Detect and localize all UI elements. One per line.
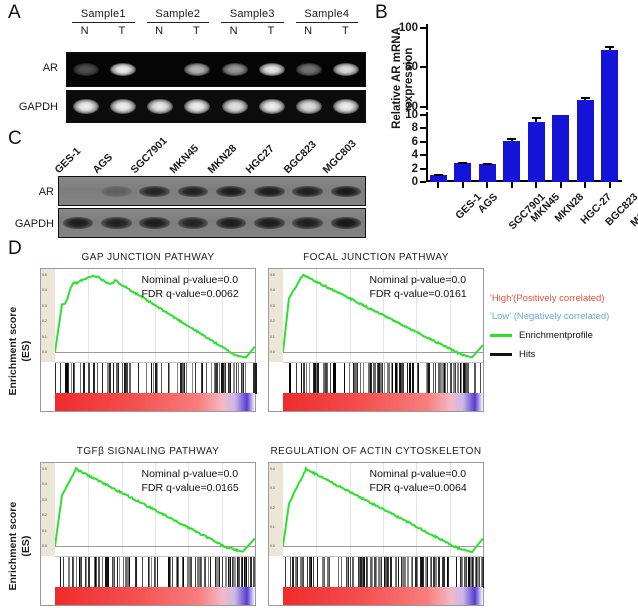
gsea-hit-tick <box>431 557 432 588</box>
legend-hits-row: Hits <box>490 350 638 360</box>
gsea-hit-tick <box>73 363 74 394</box>
gsea-hit-tick <box>119 557 120 588</box>
gsea-hit-tick <box>471 557 472 588</box>
gsea-hit-tick <box>444 557 445 588</box>
gsea-hit-tick <box>110 363 111 394</box>
gsea-hit-tick <box>88 557 90 588</box>
y-tick <box>420 114 426 116</box>
legend-low-label: 'Low' (Negatively correlated) <box>490 312 638 322</box>
gsea-hit-tick <box>349 363 350 394</box>
gsea-hit-tick <box>360 557 362 588</box>
gsea-hit-tick <box>327 557 329 588</box>
gsea-hit-tick <box>178 557 179 588</box>
gsea-hit-tick <box>333 363 334 394</box>
y-tick <box>420 106 426 108</box>
gsea-hit-tick <box>88 363 90 394</box>
gsea-hit-tick <box>325 363 327 394</box>
gsea-hit-tick <box>113 363 114 394</box>
panel-a-gel-gapdh <box>66 90 366 123</box>
gsea-hit-tick <box>427 557 428 588</box>
gsea-hit-tick <box>309 557 310 588</box>
gsea-hit-tick <box>479 557 480 588</box>
gsea-hit-tick <box>456 557 457 588</box>
gsea-ranking-gradient <box>55 393 255 411</box>
gsea-hit-tick <box>430 557 431 588</box>
gsea-hit-tick <box>391 363 392 394</box>
gsea-hit-tick <box>253 557 255 588</box>
sample-underline <box>147 22 210 23</box>
gsea-y-tick-label: 0.0 <box>270 350 275 354</box>
gsea-hit-tick <box>289 363 291 394</box>
gsea-hit-tick <box>438 363 440 394</box>
gsea-hit-tick <box>457 363 459 394</box>
lane-label-t: T <box>178 25 215 37</box>
gsea-hit-tick <box>355 363 357 394</box>
gsea-hit-tick <box>102 557 103 588</box>
gsea-hit-tick <box>151 557 152 588</box>
gsea-hit-tick <box>129 363 131 394</box>
panel-c-cellline-labels: GES-1AGSSGC7901MKN45MKN28HGC27BGC823MGC8… <box>54 134 360 176</box>
y-tick <box>420 154 426 156</box>
gsea-ranking-gradient <box>283 393 483 411</box>
gel-band-ar <box>110 63 136 76</box>
y-tick-label: 20 <box>405 101 418 113</box>
gsea-hit-tick <box>205 557 206 588</box>
gsea-hit-tick <box>396 557 397 588</box>
y-tick <box>420 27 426 29</box>
gsea-hit-tick <box>363 363 364 394</box>
gsea-hit-tick <box>464 557 465 588</box>
gsea-hit-tick <box>395 363 396 394</box>
gsea-y-tick-label: 0.4 <box>42 482 47 486</box>
gsea-hit-tick <box>148 557 149 588</box>
gsea-hit-tick <box>417 557 418 588</box>
axis-break-marker <box>425 110 435 112</box>
lane-label-n: N <box>66 25 103 37</box>
gsea-plot-tgfb-signaling: TGFβ SIGNALING PATHWAY0.00.10.20.30.40.5… <box>40 446 256 606</box>
gel-band-gapdh <box>147 99 173 114</box>
gsea-y-tick-label: 0.2 <box>270 506 275 510</box>
cellline-label: MKN45 <box>167 142 201 176</box>
gel-band-gapdh <box>222 99 248 114</box>
gsea-plot-actin-cytoskeleton: REGULATION OF ACTIN CYTOSKELETON0.00.10.… <box>268 446 484 606</box>
error-bar-cap <box>434 174 443 176</box>
gsea-hit-tick <box>385 557 387 588</box>
gsea-hit-tick <box>455 363 456 394</box>
y-tick <box>420 66 426 68</box>
gsea-hit-tick <box>60 363 61 394</box>
blot-band-ar <box>254 186 285 197</box>
gsea-hit-tick <box>460 557 461 588</box>
cellline-label: MKN28 <box>205 142 239 176</box>
panel-c-row-label-gapdh: GAPDH <box>0 218 54 230</box>
gsea-hit-tick <box>117 557 118 588</box>
gel-band-ar <box>73 63 99 76</box>
sample-underline <box>296 22 359 23</box>
lane-label-t: T <box>103 25 140 37</box>
gsea-hit-tick <box>176 557 177 588</box>
gsea-hit-tick <box>374 557 376 588</box>
gsea-hit-tick <box>330 363 331 394</box>
blot-band-gapdh <box>101 217 132 229</box>
gsea-hit-tick <box>405 557 406 588</box>
blot-band-gapdh <box>178 217 209 229</box>
lane-labels: NT <box>290 25 365 37</box>
gsea-hit-tick <box>290 557 291 588</box>
panel-a-rt-pcr: A Sample1NTSample2NTSample3NTSample4NT A… <box>0 0 372 128</box>
y-tick-label: 6 <box>412 136 418 148</box>
gsea-hit-tick <box>222 557 223 588</box>
gsea-hit-tick <box>311 557 312 588</box>
sample-group-2: Sample2NT <box>141 8 216 37</box>
gsea-y-axis-band <box>269 463 284 556</box>
gsea-y-tick-label: 0.1 <box>270 335 275 339</box>
gsea-y-tick-label: 0.2 <box>42 319 47 323</box>
panel-a-letter: A <box>8 2 21 24</box>
y-tick <box>420 141 426 143</box>
gsea-hit-tick <box>98 557 100 588</box>
gsea-hit-tick <box>215 557 216 588</box>
gsea-title: GAP JUNCTION PATHWAY <box>40 252 256 263</box>
lane-label-t: T <box>327 25 364 37</box>
gsea-y-tick-label: 0.3 <box>270 304 275 308</box>
lane-label-t: T <box>252 25 289 37</box>
sample-group-3: Sample3NT <box>215 8 290 37</box>
gsea-hit-tick <box>285 557 286 588</box>
blot-band-ar <box>331 186 362 197</box>
gsea-hit-tick <box>135 557 136 588</box>
gsea-stats-annotation: Nominal p-value=0.0 FDR q-value=0.0165 <box>142 468 239 495</box>
gsea-hit-tick <box>374 363 376 394</box>
gsea-plot-gap-junction: GAP JUNCTION PATHWAY0.00.10.20.30.40.5No… <box>40 252 256 412</box>
bar-mgc803-lower <box>601 115 618 182</box>
gsea-y-tick-label: 0.1 <box>42 529 47 533</box>
gsea-hit-tick <box>248 557 249 588</box>
gsea-hit-tick <box>409 363 411 394</box>
panel-d-gsea: D Enrichment score (ES) Enrichment score… <box>0 238 638 608</box>
sample-group-4: Sample4NT <box>290 8 365 37</box>
sample-group-1: Sample1NT <box>66 8 141 37</box>
bar-mkn45 <box>503 141 520 182</box>
bar-ags <box>454 163 471 182</box>
blot-band-gapdh <box>216 217 247 229</box>
gsea-hit-tick <box>388 557 389 588</box>
gsea-hit-tick <box>60 557 61 588</box>
gsea-stats-annotation: Nominal p-value=0.0 FDR q-value=0.0161 <box>370 274 467 301</box>
gel-band-gapdh <box>184 99 210 114</box>
gsea-hit-tick <box>427 363 428 394</box>
error-bar-cap <box>458 162 467 164</box>
legend-profile-swatch-icon <box>490 334 512 337</box>
y-tick-label: 4 <box>412 149 418 161</box>
gel-band-ar <box>184 63 210 76</box>
gel-band-ar <box>222 63 248 76</box>
gsea-y-tick-label: 0.2 <box>270 319 275 323</box>
gsea-hit-tick <box>381 557 382 588</box>
gsea-hit-tick <box>55 363 56 394</box>
sample-label: Sample3 <box>215 8 290 20</box>
gsea-hit-tick <box>63 557 64 588</box>
gsea-ranking-gradient <box>283 587 483 605</box>
gel-band-ar <box>296 63 322 76</box>
panel-c-blot-gapdh <box>58 208 366 238</box>
panel-d-y-axis-title-top: Enrichment score (ES) <box>7 303 33 399</box>
gsea-stats-annotation: Nominal p-value=0.0 FDR q-value=0.0062 <box>142 274 239 301</box>
gsea-hit-tick <box>228 363 229 394</box>
gsea-plot-focal-junction: FOCAL JUNCTION PATHWAY0.00.10.20.30.40.5… <box>268 252 484 412</box>
gsea-hit-tick <box>387 363 388 394</box>
gsea-hit-tick <box>460 363 461 394</box>
blot-band-gapdh <box>292 217 323 229</box>
y-tick-label: 0 <box>412 176 418 188</box>
y-tick-label: 2 <box>412 163 418 175</box>
gsea-hit-tick <box>124 363 125 394</box>
legend-hits-swatch-icon <box>490 353 512 356</box>
sample-underline <box>221 22 284 23</box>
gsea-hit-tick <box>208 557 209 588</box>
gsea-hit-tick <box>83 363 85 394</box>
gsea-hit-tick <box>189 557 190 588</box>
gsea-hit-tick <box>186 363 187 394</box>
gsea-hits-strip <box>283 556 483 588</box>
panel-b-qpcr-chart: B Relative AR mRNA expression 0246810206… <box>372 0 638 240</box>
gsea-hit-tick <box>413 363 414 394</box>
gsea-hit-tick <box>116 363 118 394</box>
gsea-hit-tick <box>169 363 170 394</box>
gsea-hit-tick <box>317 557 318 588</box>
gsea-hit-tick <box>480 363 481 394</box>
panel-a-row-label-ar: AR <box>0 62 58 74</box>
sample-label: Sample4 <box>290 8 365 20</box>
gsea-hit-tick <box>233 363 235 394</box>
sample-label: Sample1 <box>66 8 141 20</box>
gsea-hit-tick <box>363 557 364 588</box>
gsea-hit-tick <box>378 363 380 394</box>
bar-hgc-27 <box>552 115 569 182</box>
bar-sgc7901 <box>479 164 496 182</box>
gsea-hit-tick <box>475 557 476 588</box>
gsea-hit-tick <box>416 557 417 588</box>
gsea-hit-tick <box>80 363 81 394</box>
gsea-y-tick-label: 0.3 <box>42 304 47 308</box>
gsea-hit-tick <box>352 557 354 588</box>
blot-band-ar <box>178 186 209 197</box>
gsea-hit-tick <box>68 557 70 588</box>
gsea-hit-tick <box>192 363 193 394</box>
panel-d-y-axis-title-bottom: Enrichment score (ES) <box>7 498 33 594</box>
gsea-hit-tick <box>292 557 294 588</box>
gsea-hit-tick <box>334 363 336 394</box>
gsea-hits-strip <box>283 362 483 394</box>
gsea-hit-tick <box>360 363 361 394</box>
gsea-hit-tick <box>108 557 109 588</box>
blot-band-ar <box>139 186 170 197</box>
sample-label: Sample2 <box>141 8 216 20</box>
gsea-hit-tick <box>466 363 468 394</box>
gsea-hit-tick <box>168 557 170 588</box>
y-tick-label: 8 <box>412 122 418 134</box>
panel-d-letter: D <box>8 238 22 260</box>
gsea-hit-tick <box>390 557 392 588</box>
lane-label-n: N <box>141 25 178 37</box>
gsea-hit-tick <box>114 557 115 588</box>
legend-enrichment-profile-row: Enrichmentprofile <box>490 331 638 341</box>
y-tick <box>420 168 426 170</box>
gsea-hit-tick <box>76 557 77 588</box>
error-bar-cap <box>605 46 614 48</box>
gsea-hit-tick <box>314 363 316 394</box>
gsea-hit-tick <box>201 557 202 588</box>
gsea-hit-tick <box>236 363 237 394</box>
gsea-hit-tick <box>466 557 467 588</box>
gsea-hits-strip <box>55 362 255 394</box>
gsea-hit-tick <box>161 363 162 394</box>
gsea-y-tick-label: 0.0 <box>42 350 47 354</box>
gsea-hit-tick <box>482 557 483 588</box>
gsea-hit-tick <box>301 363 302 394</box>
blot-band-gapdh <box>331 217 362 229</box>
gsea-hit-tick <box>243 363 244 394</box>
gsea-y-tick-label: 0.5 <box>42 273 47 277</box>
error-bar-cap <box>532 117 541 119</box>
gsea-hit-tick <box>438 557 440 588</box>
gsea-hit-tick <box>206 363 207 394</box>
gsea-hit-tick <box>97 363 98 394</box>
gsea-hit-tick <box>195 557 196 588</box>
gel-band-gapdh <box>73 99 99 114</box>
gsea-hit-tick <box>313 557 314 588</box>
gsea-hit-tick <box>219 363 220 394</box>
cellline-label: BGC823 <box>282 139 319 176</box>
cellline-label: SGC7901 <box>129 135 170 176</box>
panel-a-gel-ar <box>66 52 366 87</box>
cellline-label: AGS <box>91 151 116 176</box>
blot-band-ar <box>216 186 247 197</box>
gsea-y-tick-label: 0.0 <box>42 544 47 548</box>
x-tick <box>511 182 513 188</box>
gsea-stats-annotation: Nominal p-value=0.0 FDR q-value=0.0064 <box>370 468 467 495</box>
gsea-hit-tick <box>96 557 97 588</box>
gsea-hit-tick <box>85 557 86 588</box>
lane-label-n: N <box>215 25 252 37</box>
panel-b-y-axis <box>426 24 428 182</box>
gsea-hit-tick <box>191 557 192 588</box>
gsea-hit-tick <box>81 557 82 588</box>
gsea-hit-tick <box>245 363 246 394</box>
gsea-hit-tick <box>172 557 173 588</box>
gsea-hit-tick <box>242 557 243 588</box>
gel-band-gapdh <box>296 99 322 114</box>
gsea-hit-tick <box>125 557 127 588</box>
x-tick <box>535 182 537 188</box>
error-bar-cap <box>483 163 492 165</box>
gsea-hit-tick <box>211 363 212 394</box>
gsea-hit-tick <box>253 363 255 394</box>
gsea-hit-tick <box>402 363 404 394</box>
gsea-hit-tick <box>107 557 108 588</box>
gsea-hit-tick <box>474 363 476 394</box>
blot-band-gapdh <box>254 217 285 229</box>
cellline-label: MGC803 <box>320 138 358 176</box>
gel-band-gapdh <box>259 99 285 114</box>
lane-labels: NT <box>141 25 216 37</box>
y-tick-label: 100 <box>399 22 418 34</box>
gsea-hit-tick <box>306 363 307 394</box>
panel-c-blot-ar <box>58 176 366 206</box>
panel-b-letter: B <box>375 2 388 24</box>
gsea-hit-tick <box>153 363 154 394</box>
gsea-hit-tick <box>238 557 240 588</box>
gsea-y-tick-label: 0.3 <box>42 498 47 502</box>
gsea-ranking-gradient <box>55 587 255 605</box>
lane-labels: NT <box>66 25 141 37</box>
gsea-y-tick-label: 0.0 <box>270 544 275 548</box>
x-tick <box>462 182 464 188</box>
gsea-y-tick-label: 0.4 <box>270 467 275 471</box>
error-bar-cap <box>507 138 516 140</box>
y-tick <box>420 127 426 129</box>
gsea-y-tick-label: 0.4 <box>270 288 275 292</box>
gsea-hit-tick <box>151 363 152 394</box>
gsea-hit-tick <box>370 557 372 588</box>
x-tick <box>609 182 611 188</box>
gsea-hit-tick <box>429 363 430 394</box>
gsea-hit-tick <box>463 363 464 394</box>
gsea-hit-tick <box>302 557 303 588</box>
gsea-hit-tick <box>344 363 345 394</box>
gsea-hit-tick <box>225 557 227 588</box>
y-tick-label: 60 <box>405 61 418 73</box>
gsea-y-axis-band <box>269 269 284 362</box>
y-tick <box>420 181 426 183</box>
gsea-hit-tick <box>350 557 351 588</box>
gsea-hit-tick <box>341 557 342 588</box>
gsea-hit-tick <box>228 557 229 588</box>
gsea-hit-tick <box>412 557 413 588</box>
sample-underline <box>72 22 135 23</box>
gsea-title: TGFβ SIGNALING PATHWAY <box>40 446 256 457</box>
gsea-hit-tick <box>155 363 157 394</box>
gsea-hit-tick <box>201 363 202 394</box>
gsea-title: REGULATION OF ACTIN CYTOSKELETON <box>268 446 484 457</box>
gsea-hit-tick <box>421 557 422 588</box>
gsea-hit-tick <box>195 363 196 394</box>
gsea-hit-tick <box>197 557 199 588</box>
legend-high-label: 'High'(Positively correlated) <box>490 294 638 304</box>
gsea-hit-tick <box>435 363 436 394</box>
gsea-hit-tick <box>357 363 358 394</box>
gsea-hit-tick <box>142 557 143 588</box>
gsea-hit-tick <box>347 557 348 588</box>
gsea-hit-tick <box>129 557 130 588</box>
gsea-hit-tick <box>250 557 252 588</box>
panel-a-row-label-gapdh: GAPDH <box>0 101 58 113</box>
gsea-y-tick-label: 0.1 <box>42 335 47 339</box>
gsea-hit-tick <box>71 363 72 394</box>
lane-labels: NT <box>215 25 290 37</box>
gsea-hit-tick <box>157 557 158 588</box>
gsea-hit-tick <box>296 363 297 394</box>
error-bar-cap <box>581 97 590 99</box>
panel-c-letter: C <box>8 128 22 150</box>
gsea-hit-tick <box>138 363 139 394</box>
gsea-y-tick-label: 0.1 <box>270 525 275 529</box>
gsea-hit-tick <box>435 557 437 588</box>
gsea-hit-tick <box>93 363 95 394</box>
gsea-hit-tick <box>80 557 81 588</box>
gsea-hit-tick <box>395 557 396 588</box>
gsea-y-tick-label: 0.5 <box>270 273 275 277</box>
